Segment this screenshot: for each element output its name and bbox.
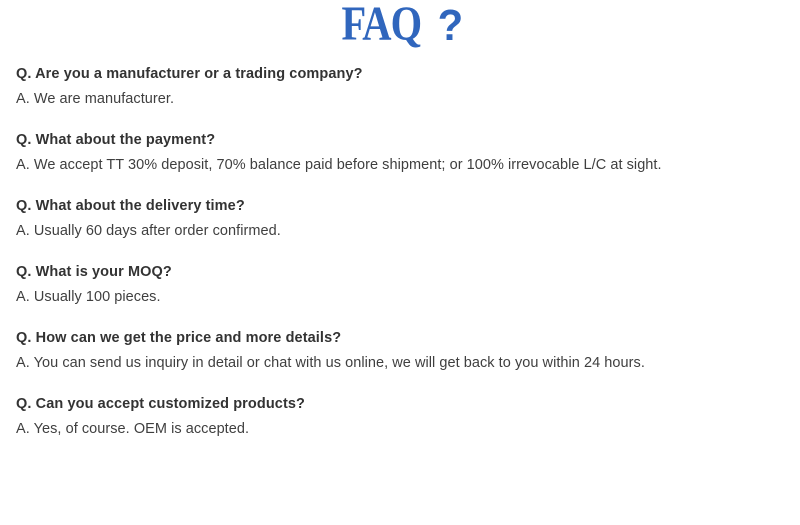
faq-question: Q. Are you a manufacturer or a trading c… (16, 62, 788, 87)
faq-list: Q. Are you a manufacturer or a trading c… (16, 62, 788, 442)
page-title: FAQ? (0, 2, 800, 48)
faq-item: Q. What about the payment? A. We accept … (16, 128, 788, 178)
faq-item: Q. What is your MOQ? A. Usually 100 piec… (16, 260, 788, 310)
faq-item: Q. How can we get the price and more det… (16, 326, 788, 376)
faq-page: FAQ? Q. Are you a manufacturer or a trad… (0, 0, 800, 525)
faq-question: Q. What about the payment? (16, 128, 788, 153)
faq-answer: A. Yes, of course. OEM is accepted. (16, 417, 788, 442)
faq-item: Q. What about the delivery time? A. Usua… (16, 194, 788, 244)
faq-answer: A. Usually 100 pieces. (16, 285, 788, 310)
question-mark-icon: ? (438, 4, 464, 48)
faq-title-text: FAQ (342, 0, 422, 48)
faq-item: Q. Are you a manufacturer or a trading c… (16, 62, 788, 112)
faq-answer: A. Usually 60 days after order confirmed… (16, 219, 788, 244)
faq-answer: A. We are manufacturer. (16, 87, 788, 112)
faq-question: Q. What about the delivery time? (16, 194, 788, 219)
faq-question: Q. How can we get the price and more det… (16, 326, 788, 351)
faq-question: Q. Can you accept customized products? (16, 392, 788, 417)
faq-question: Q. What is your MOQ? (16, 260, 788, 285)
faq-item: Q. Can you accept customized products? A… (16, 392, 788, 442)
faq-answer: A. We accept TT 30% deposit, 70% balance… (16, 153, 788, 178)
faq-answer: A. You can send us inquiry in detail or … (16, 351, 788, 376)
